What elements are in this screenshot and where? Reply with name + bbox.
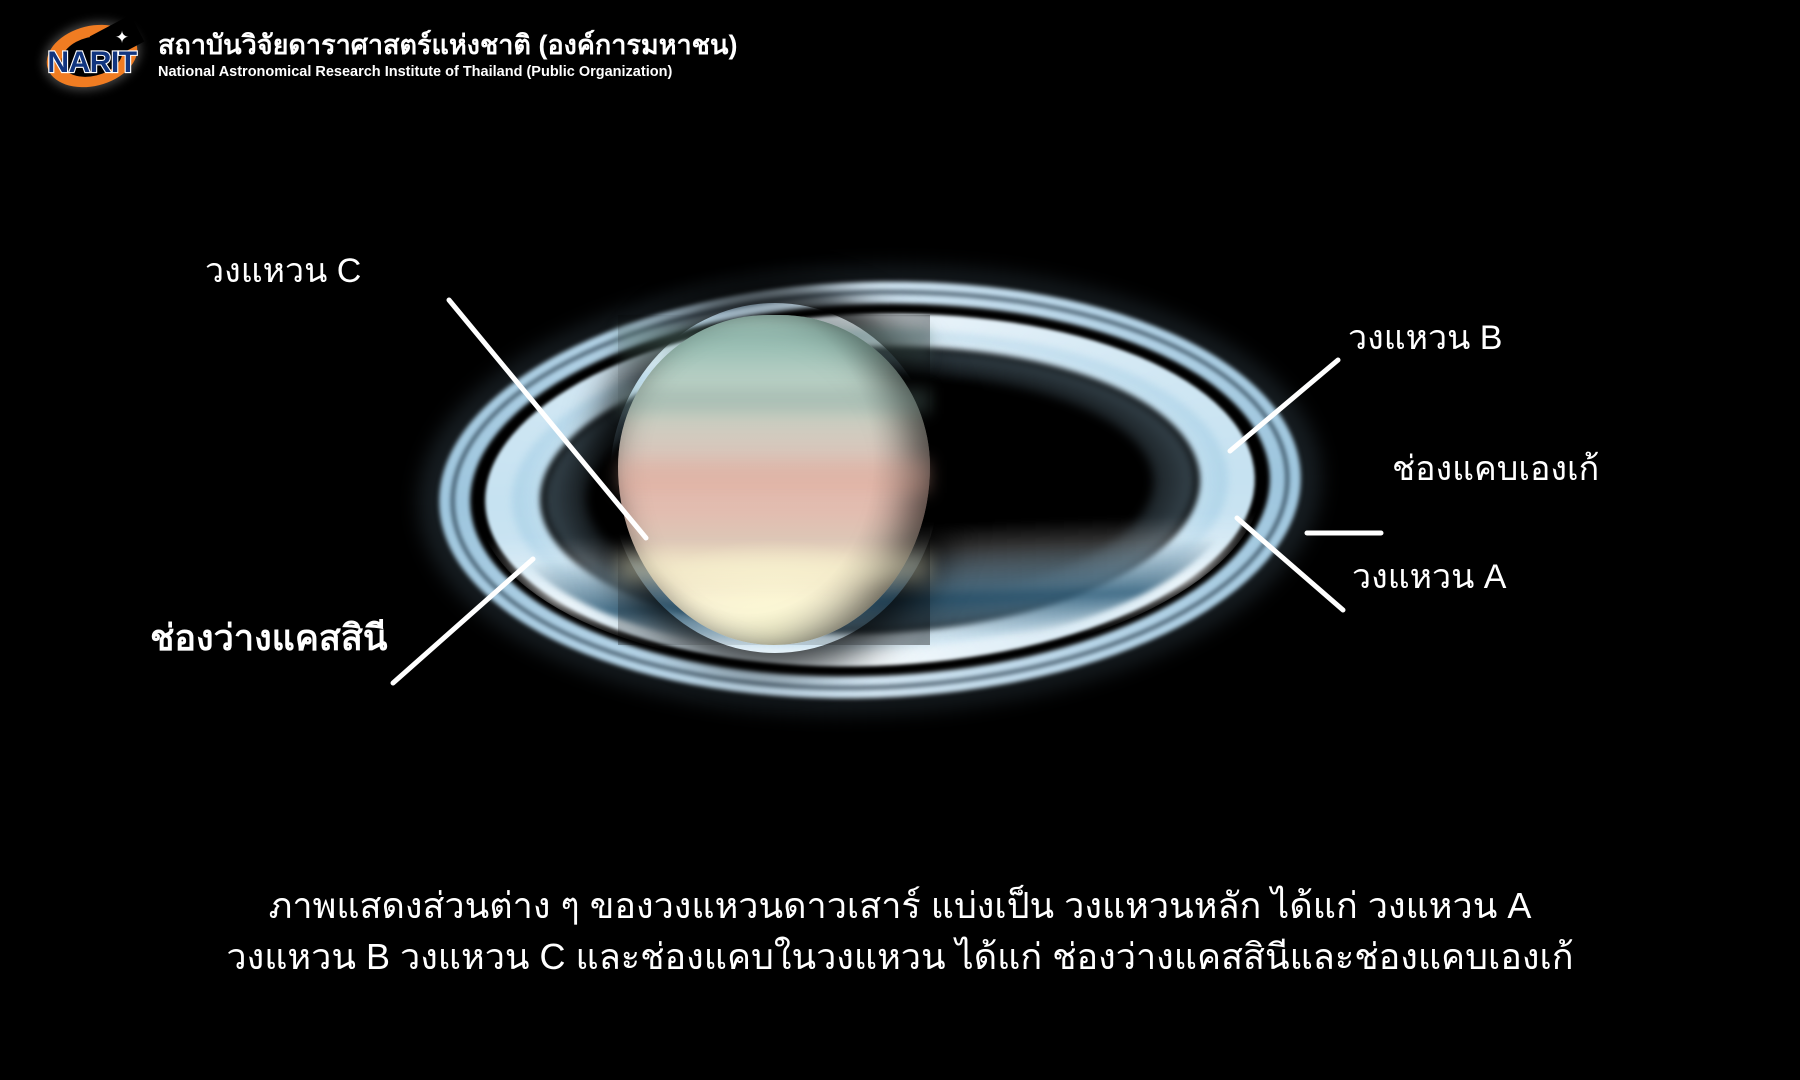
label-ring-b: วงแหวน B — [1348, 310, 1502, 364]
label-ring-c: วงแหวน C — [205, 243, 361, 297]
infographic-canvas: ✦ NARIT สถาบันวิจัยดาราศาสตร์แห่งชาติ (อ… — [0, 0, 1800, 1080]
label-cassini-division: ช่องว่างแคสสินี — [150, 609, 387, 666]
leader-line-group — [0, 0, 1800, 1080]
leader-ring-b — [1230, 360, 1338, 451]
leader-cassini-division — [393, 559, 533, 683]
label-encke-gap: ช่องแคบเองเก้ — [1392, 441, 1599, 495]
label-ring-a: วงแหวน A — [1352, 549, 1506, 603]
leader-ring-c — [449, 300, 646, 538]
